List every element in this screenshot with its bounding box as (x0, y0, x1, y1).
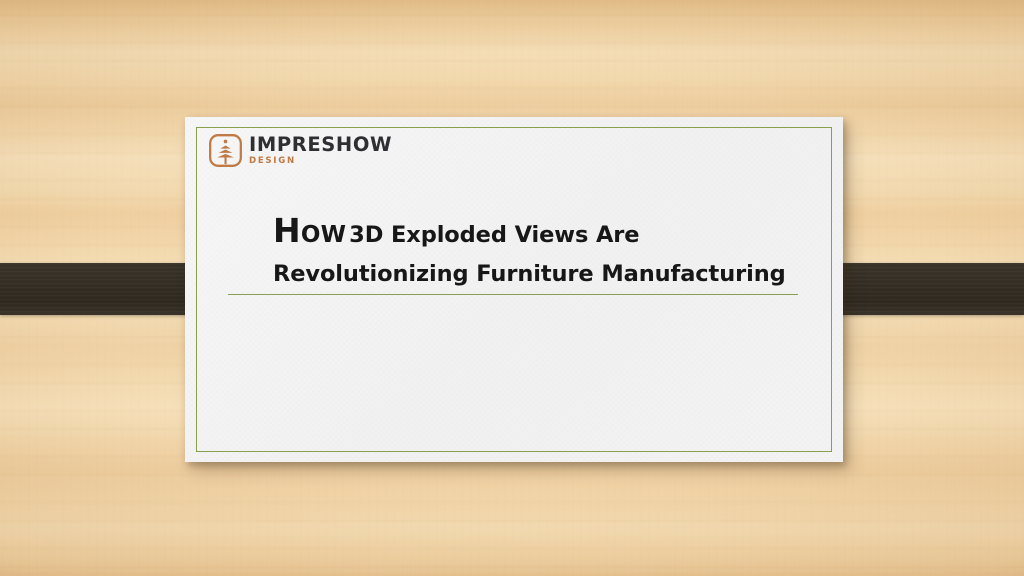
title-underline-rule (228, 294, 798, 295)
ribbon-strap-left (0, 263, 210, 315)
slide-title-line-1-rest: 3D Exploded Views Are (349, 222, 639, 248)
slide-title-block: How3D Exploded Views Are Revolutionizing… (273, 211, 818, 287)
presentation-slide-stage: IMPRESHOW DESIGN How3D Exploded Views Ar… (0, 0, 1024, 576)
slide-content: IMPRESHOW DESIGN How3D Exploded Views Ar… (185, 117, 843, 462)
title-slide-card: IMPRESHOW DESIGN How3D Exploded Views Ar… (185, 117, 843, 462)
slide-title-line-1: How3D Exploded Views Are (273, 211, 818, 250)
brand-logo-text: IMPRESHOW DESIGN (249, 135, 392, 165)
brand-logo[interactable]: IMPRESHOW DESIGN (208, 133, 392, 168)
brand-wordmark: IMPRESHOW (249, 135, 392, 155)
tree-leaf-badge-icon (208, 133, 243, 168)
slide-title-line-2: Revolutionizing Furniture Manufacturing (273, 261, 818, 287)
brand-subword: DESIGN (249, 157, 392, 166)
slide-title-lead-word: How (273, 211, 346, 250)
ribbon-strap-right (815, 263, 1024, 315)
